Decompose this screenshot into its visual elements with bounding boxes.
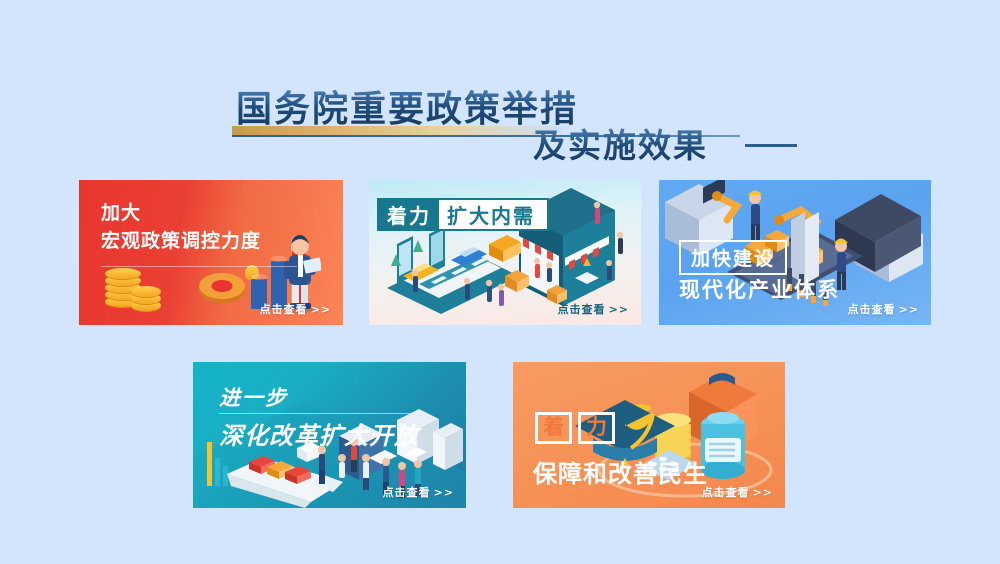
illustration-donut-coin bbox=[199, 273, 245, 299]
card-title-part2: 扩大内需 bbox=[439, 198, 549, 231]
card-cta-label: 点击查看 bbox=[383, 487, 431, 499]
card-cta[interactable]: 点击查看>> bbox=[383, 484, 454, 500]
card-title-part1: 着力 bbox=[377, 198, 439, 231]
illustration-coin-stack-small bbox=[131, 281, 161, 311]
chevron-right-icon: >> bbox=[899, 303, 919, 316]
card-livelihood[interactable]: 着 力 保障和改善民生 点击查看>> bbox=[513, 362, 785, 508]
card-title-line2: 保障和改善民生 bbox=[533, 454, 708, 489]
page-header: 国务院重要政策举措 及实施效果 bbox=[0, 40, 1000, 140]
card-title-part1: 着 bbox=[535, 412, 572, 444]
card-title-line2: 现代化产业体系 bbox=[679, 274, 840, 304]
card-cta-label: 点击查看 bbox=[702, 487, 750, 499]
chevron-right-icon: >> bbox=[609, 303, 629, 316]
card-title-part2: 力 bbox=[578, 412, 615, 444]
chevron-right-icon: >> bbox=[311, 303, 331, 316]
card-title-line1: 进一步 bbox=[219, 382, 288, 412]
card-title-line2: 深化改革扩大开放 bbox=[219, 416, 419, 451]
card-modern-industry[interactable]: 加快建设 现代化产业体系 点击查看>> bbox=[659, 180, 931, 325]
card-cta-label: 点击查看 bbox=[558, 304, 606, 316]
card-title-divider bbox=[219, 413, 419, 414]
card-cta-label: 点击查看 bbox=[260, 304, 308, 316]
card-title-line2: 宏观政策调控力度 bbox=[101, 229, 261, 255]
chevron-right-icon: >> bbox=[434, 486, 454, 499]
card-cta[interactable]: 点击查看>> bbox=[848, 301, 919, 317]
card-domestic-demand[interactable]: 着力 扩大内需 点击查看>> bbox=[369, 180, 641, 325]
title-trailing-dash bbox=[745, 144, 797, 147]
card-macro-policy[interactable]: 加大 宏观政策调控力度 点击查看>> bbox=[79, 180, 343, 325]
card-cta[interactable]: 点击查看>> bbox=[260, 301, 331, 317]
card-cta[interactable]: 点击查看>> bbox=[702, 484, 773, 500]
card-title-badge: 着 力 bbox=[535, 412, 615, 444]
card-reform-opening[interactable]: 进一步 深化改革扩大开放 点击查看>> bbox=[193, 362, 466, 508]
title-gold-underline bbox=[232, 126, 562, 135]
card-title-line1: 加大 bbox=[101, 202, 261, 226]
card-cta-label: 点击查看 bbox=[848, 304, 896, 316]
card-title-banner: 着力 扩大内需 bbox=[377, 198, 549, 231]
card-title: 加大 宏观政策调控力度 bbox=[101, 202, 261, 255]
chevron-right-icon: >> bbox=[753, 486, 773, 499]
page-title-line1: 国务院重要政策举措 bbox=[236, 88, 578, 130]
card-title-divider bbox=[101, 266, 297, 267]
page-title-line2: 及实施效果 bbox=[533, 126, 708, 166]
card-title-line1: 加快建设 bbox=[679, 240, 787, 275]
card-cta[interactable]: 点击查看>> bbox=[558, 301, 629, 317]
